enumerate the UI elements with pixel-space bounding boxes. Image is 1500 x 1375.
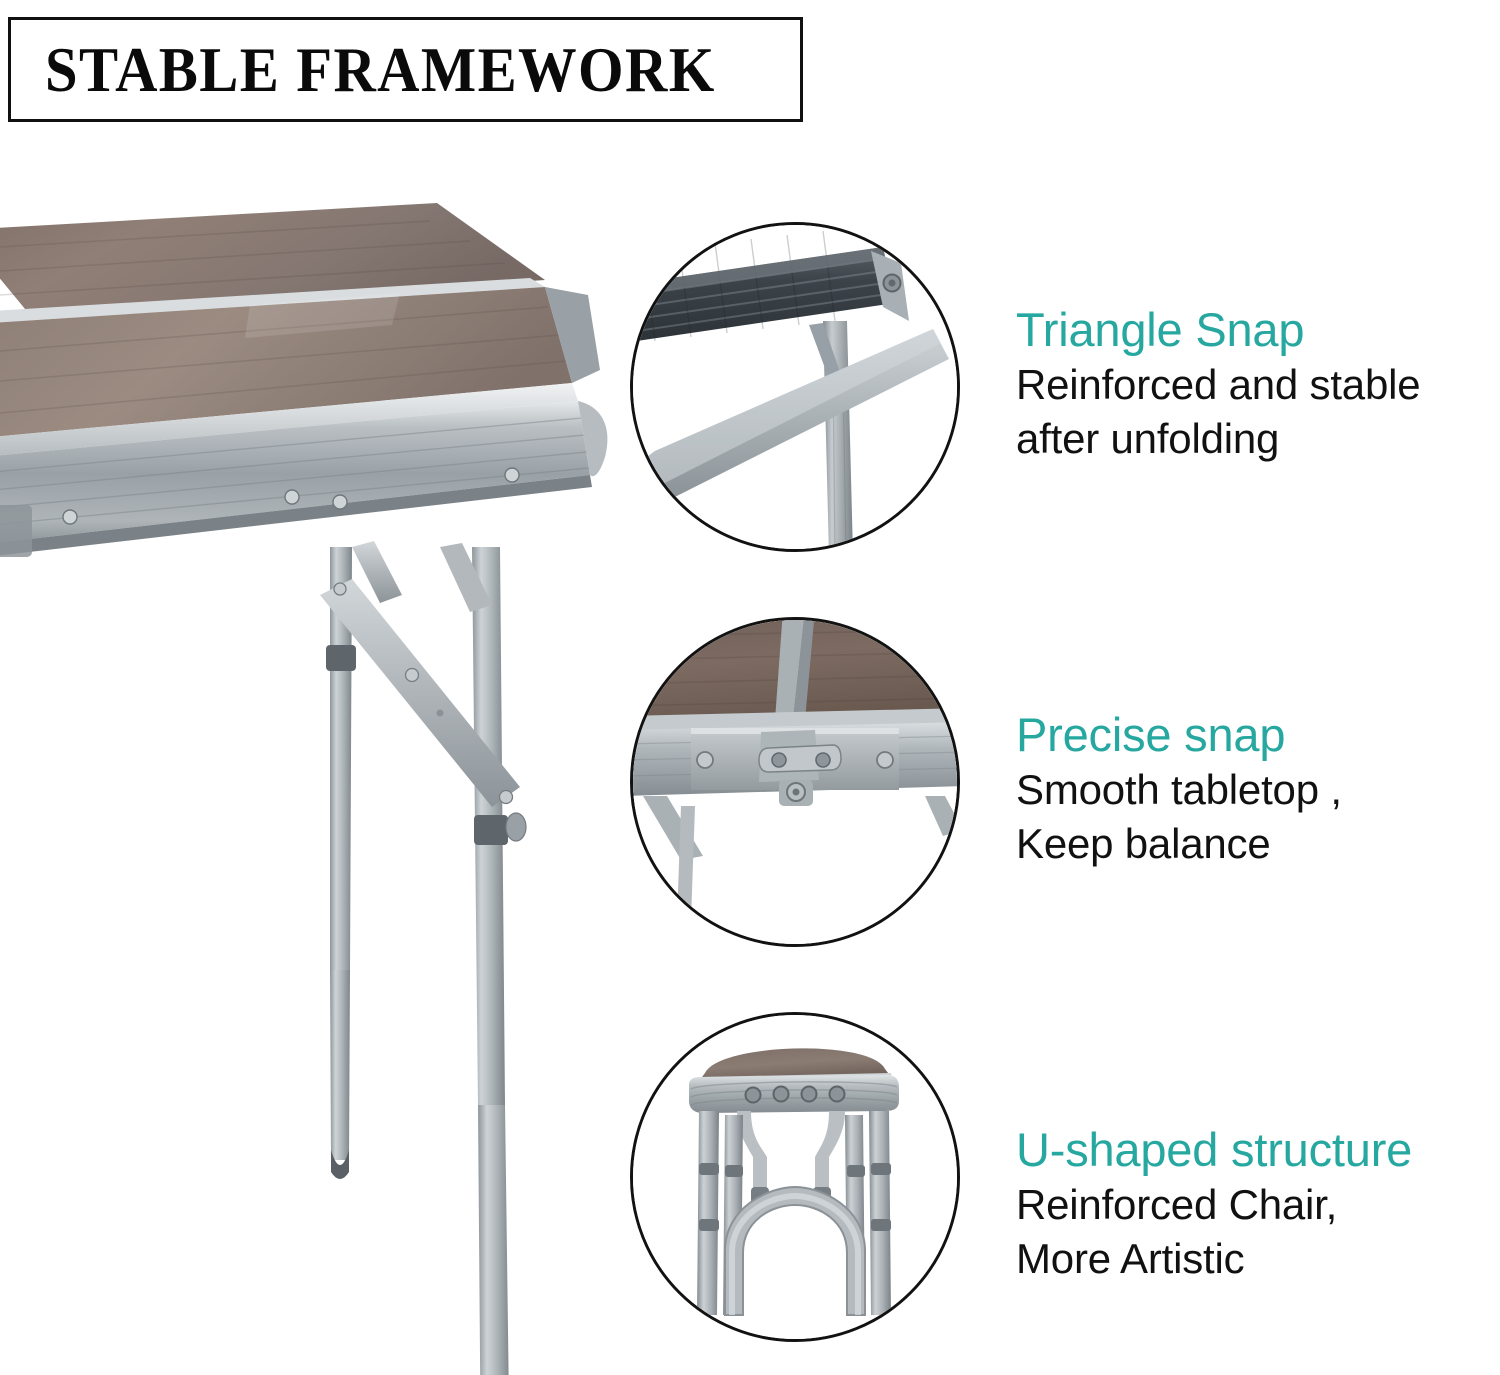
triangle-snap-illustration bbox=[633, 225, 957, 549]
page-title: STABLE FRAMEWORK bbox=[45, 34, 716, 106]
feature-line-2: after unfolding bbox=[1016, 412, 1500, 466]
feature-line-1: Smooth tabletop , bbox=[1016, 763, 1500, 817]
feature-line-1: Reinforced Chair, bbox=[1016, 1178, 1500, 1232]
feature-title: Triangle Snap bbox=[1016, 302, 1500, 358]
caption-precise-snap: Precise snap Smooth tabletop , Keep bala… bbox=[1016, 707, 1500, 871]
feature-line-2: Keep balance bbox=[1016, 817, 1500, 871]
feature-row-precise-snap: Precise snap Smooth tabletop , Keep bala… bbox=[628, 615, 1500, 955]
feature-line-1: Reinforced and stable bbox=[1016, 358, 1500, 412]
title-box: STABLE FRAMEWORK bbox=[8, 17, 803, 122]
u-shaped-structure-illustration bbox=[633, 1015, 957, 1339]
caption-u-shaped-structure: U-shaped structure Reinforced Chair, Mor… bbox=[1016, 1122, 1500, 1286]
triangle-snap-detail-photo bbox=[630, 222, 960, 552]
feature-title: U-shaped structure bbox=[1016, 1122, 1500, 1178]
feature-row-triangle-snap: Triangle Snap Reinforced and stable afte… bbox=[628, 220, 1500, 560]
hero-product-image bbox=[0, 175, 620, 1375]
caption-triangle-snap: Triangle Snap Reinforced and stable afte… bbox=[1016, 302, 1500, 466]
feature-row-u-shaped-structure: U-shaped structure Reinforced Chair, Mor… bbox=[628, 1010, 1500, 1350]
product-infographic: STABLE FRAMEWORK bbox=[0, 0, 1500, 1375]
precise-snap-detail-photo bbox=[630, 617, 960, 947]
u-shaped-structure-detail-photo bbox=[630, 1012, 960, 1342]
feature-line-2: More Artistic bbox=[1016, 1232, 1500, 1286]
folding-table-illustration bbox=[0, 175, 620, 1375]
precise-snap-illustration bbox=[633, 620, 957, 944]
feature-title: Precise snap bbox=[1016, 707, 1500, 763]
